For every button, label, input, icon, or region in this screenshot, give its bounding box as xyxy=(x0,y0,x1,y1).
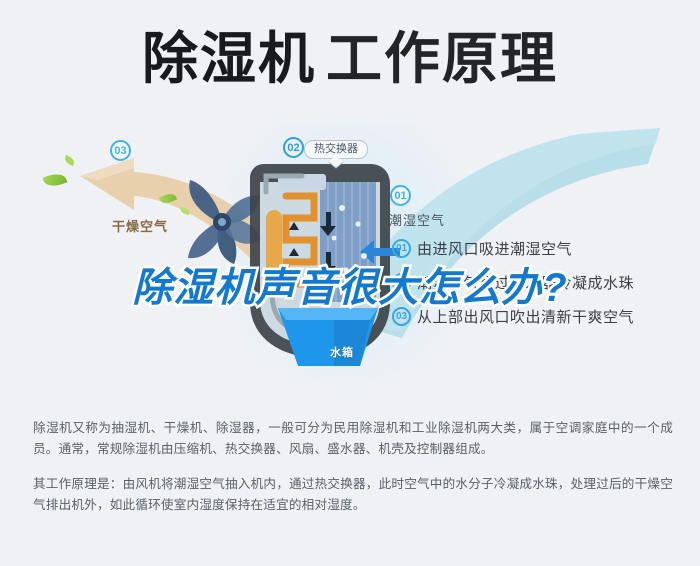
step-badge-03: 03 xyxy=(110,140,131,161)
article-body: 除湿机又称为抽湿机、干燥机、除湿器，一般可分为民用除湿机和工业除湿机两大类，属于… xyxy=(33,418,673,516)
article-paragraph-1: 除湿机又称为抽湿机、干燥机、除湿器，一般可分为民用除湿机和工业除湿机两大类，属于… xyxy=(33,418,673,460)
leaf-icon xyxy=(43,171,68,189)
page-title-part1: 除湿机 xyxy=(142,27,316,90)
page-title: 除湿机工作原理 xyxy=(0,26,700,92)
step-badge-02: 02 xyxy=(283,137,304,158)
step-badge-01: 01 xyxy=(390,185,411,206)
step-label: 由进风口吸进潮湿空气 xyxy=(417,238,572,259)
dry-air-label: 干燥空气 xyxy=(112,216,168,235)
article-paragraph-2: 其工作原理是：由风机将潮湿空气抽入机内，通过热交换器，此时空气中的水分子冷凝成水… xyxy=(33,474,673,516)
overlay-headline: 除湿机声音很大怎么办? xyxy=(0,262,700,314)
water-tank-label: 水箱 xyxy=(330,344,354,360)
dehumidifier-diagram: 干燥空气 xyxy=(0,112,700,404)
moist-air-label: 潮湿空气 xyxy=(389,210,445,229)
page-title-part2: 工作原理 xyxy=(326,27,558,90)
infographic-page: 除湿机工作原理 干燥空气 xyxy=(0,0,700,566)
heat-exchanger-callout: 热交换器 xyxy=(304,140,368,159)
step-number: 01 xyxy=(392,239,411,258)
